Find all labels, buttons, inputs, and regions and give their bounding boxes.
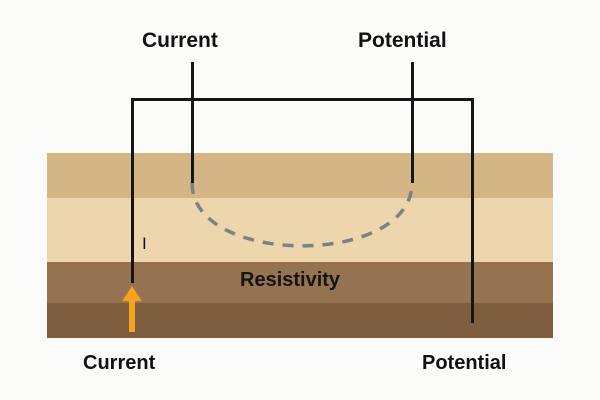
label-potential-top: Potential xyxy=(358,29,447,53)
label-current-symbol: I xyxy=(142,234,147,254)
topsoil-layer xyxy=(47,153,553,198)
label-current-bottom: Current xyxy=(83,352,155,375)
potential-inner-electrode xyxy=(411,62,414,183)
current-inner-electrode xyxy=(191,62,194,183)
potential-outer-electrode xyxy=(471,98,474,323)
label-resistivity: Resistivity xyxy=(240,269,340,292)
current-outer-electrode xyxy=(131,98,134,283)
resistivity-survey-diagram: Current Potential Current Potential Resi… xyxy=(0,0,600,400)
current-direction-arrow xyxy=(117,284,147,332)
subsoil-layer xyxy=(47,198,553,262)
label-potential-bottom: Potential xyxy=(422,352,506,375)
label-current-top: Current xyxy=(142,29,218,53)
survey-cable-horizontal xyxy=(132,98,473,101)
